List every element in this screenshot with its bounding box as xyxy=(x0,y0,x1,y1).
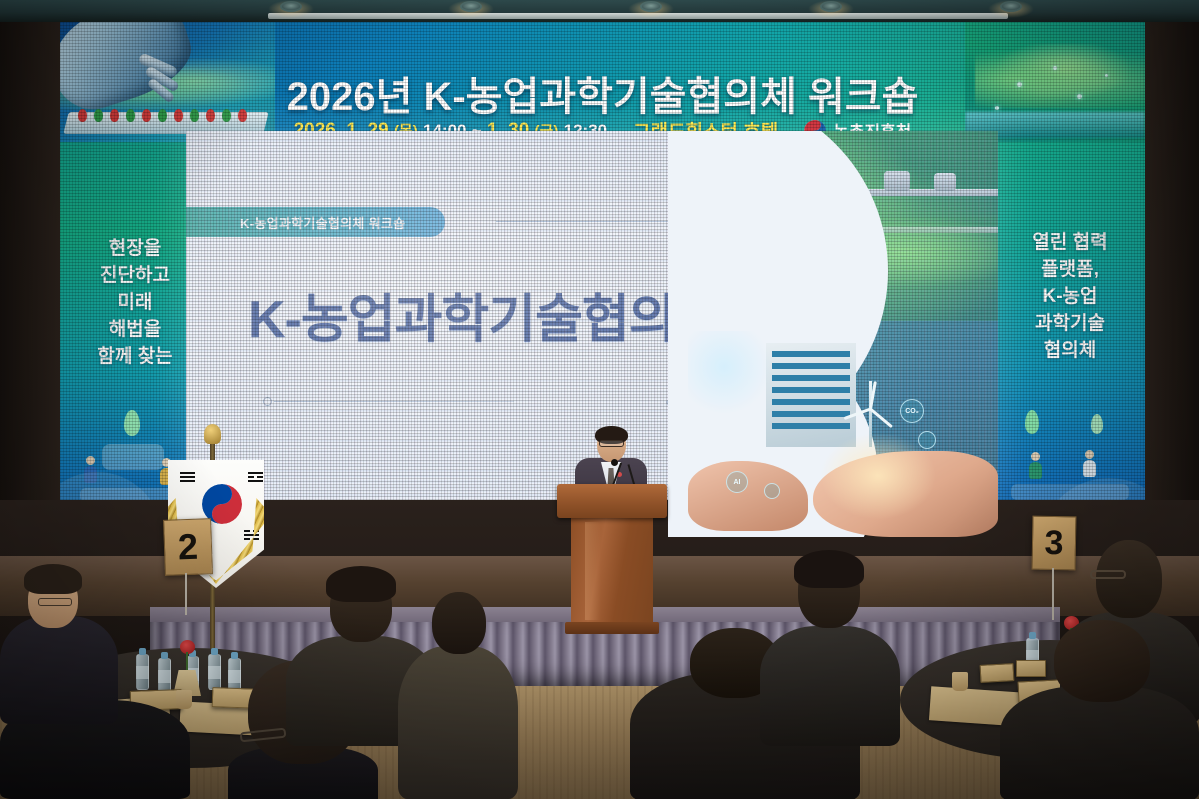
hud-node-icon xyxy=(918,431,936,449)
paper-cup xyxy=(952,672,968,691)
hud-tag-ai: AI xyxy=(726,471,748,493)
downlight-icon xyxy=(640,1,662,12)
table-number-sign-2: 2 xyxy=(164,519,212,575)
hud-tag-co2: CO₂ xyxy=(900,399,924,423)
table-sign-number: 2 xyxy=(163,518,213,576)
wooden-podium xyxy=(563,484,661,634)
right-line-3: K-농업 xyxy=(995,284,1145,311)
right-line-5: 협의체 xyxy=(995,338,1145,365)
right-line-1: 열린 협력 xyxy=(995,230,1145,257)
eyeglasses-icon xyxy=(599,440,624,447)
audience-person xyxy=(1000,620,1199,799)
conference-hall-photo: 2026년 K-농업과학기술협의체 워크숍 2026. 1. 29.(목) 14… xyxy=(0,0,1199,799)
side-wall-right xyxy=(1143,22,1199,582)
audience-person xyxy=(398,592,518,799)
right-line-4: 과학기술 xyxy=(995,311,1145,338)
downlight-icon xyxy=(1000,1,1022,12)
flag-finial-icon xyxy=(204,424,221,444)
side-panel-right-text: 열린 협력 플랫폼, K-농업 과학기술 협의체 xyxy=(995,230,1145,365)
led-side-panel-right: 열린 협력 플랫폼, K-농업 과학기술 협의체 xyxy=(995,142,1145,557)
eyeglasses-icon xyxy=(1090,570,1126,579)
banner-title: 2026년 K-농업과학기술협의체 워크숍 xyxy=(60,64,1145,122)
slide-badge: K-농업과학기술협의체 워크숍 xyxy=(186,207,445,237)
side-wall-left xyxy=(0,22,62,582)
decoration-line xyxy=(274,401,514,402)
downlight-icon xyxy=(820,1,842,12)
slide-imagery-collage: CO₂ AI xyxy=(668,131,998,537)
audience-person xyxy=(0,560,120,720)
downlight-icon xyxy=(280,1,302,12)
downlight-icon xyxy=(460,1,482,12)
paper-cup xyxy=(176,690,192,709)
audience-person xyxy=(760,552,900,742)
decoration-circle-icon xyxy=(263,397,272,406)
eyeglasses-icon xyxy=(38,598,72,606)
hud-node-icon xyxy=(764,483,780,499)
right-line-2: 플랫폼, xyxy=(995,257,1145,284)
